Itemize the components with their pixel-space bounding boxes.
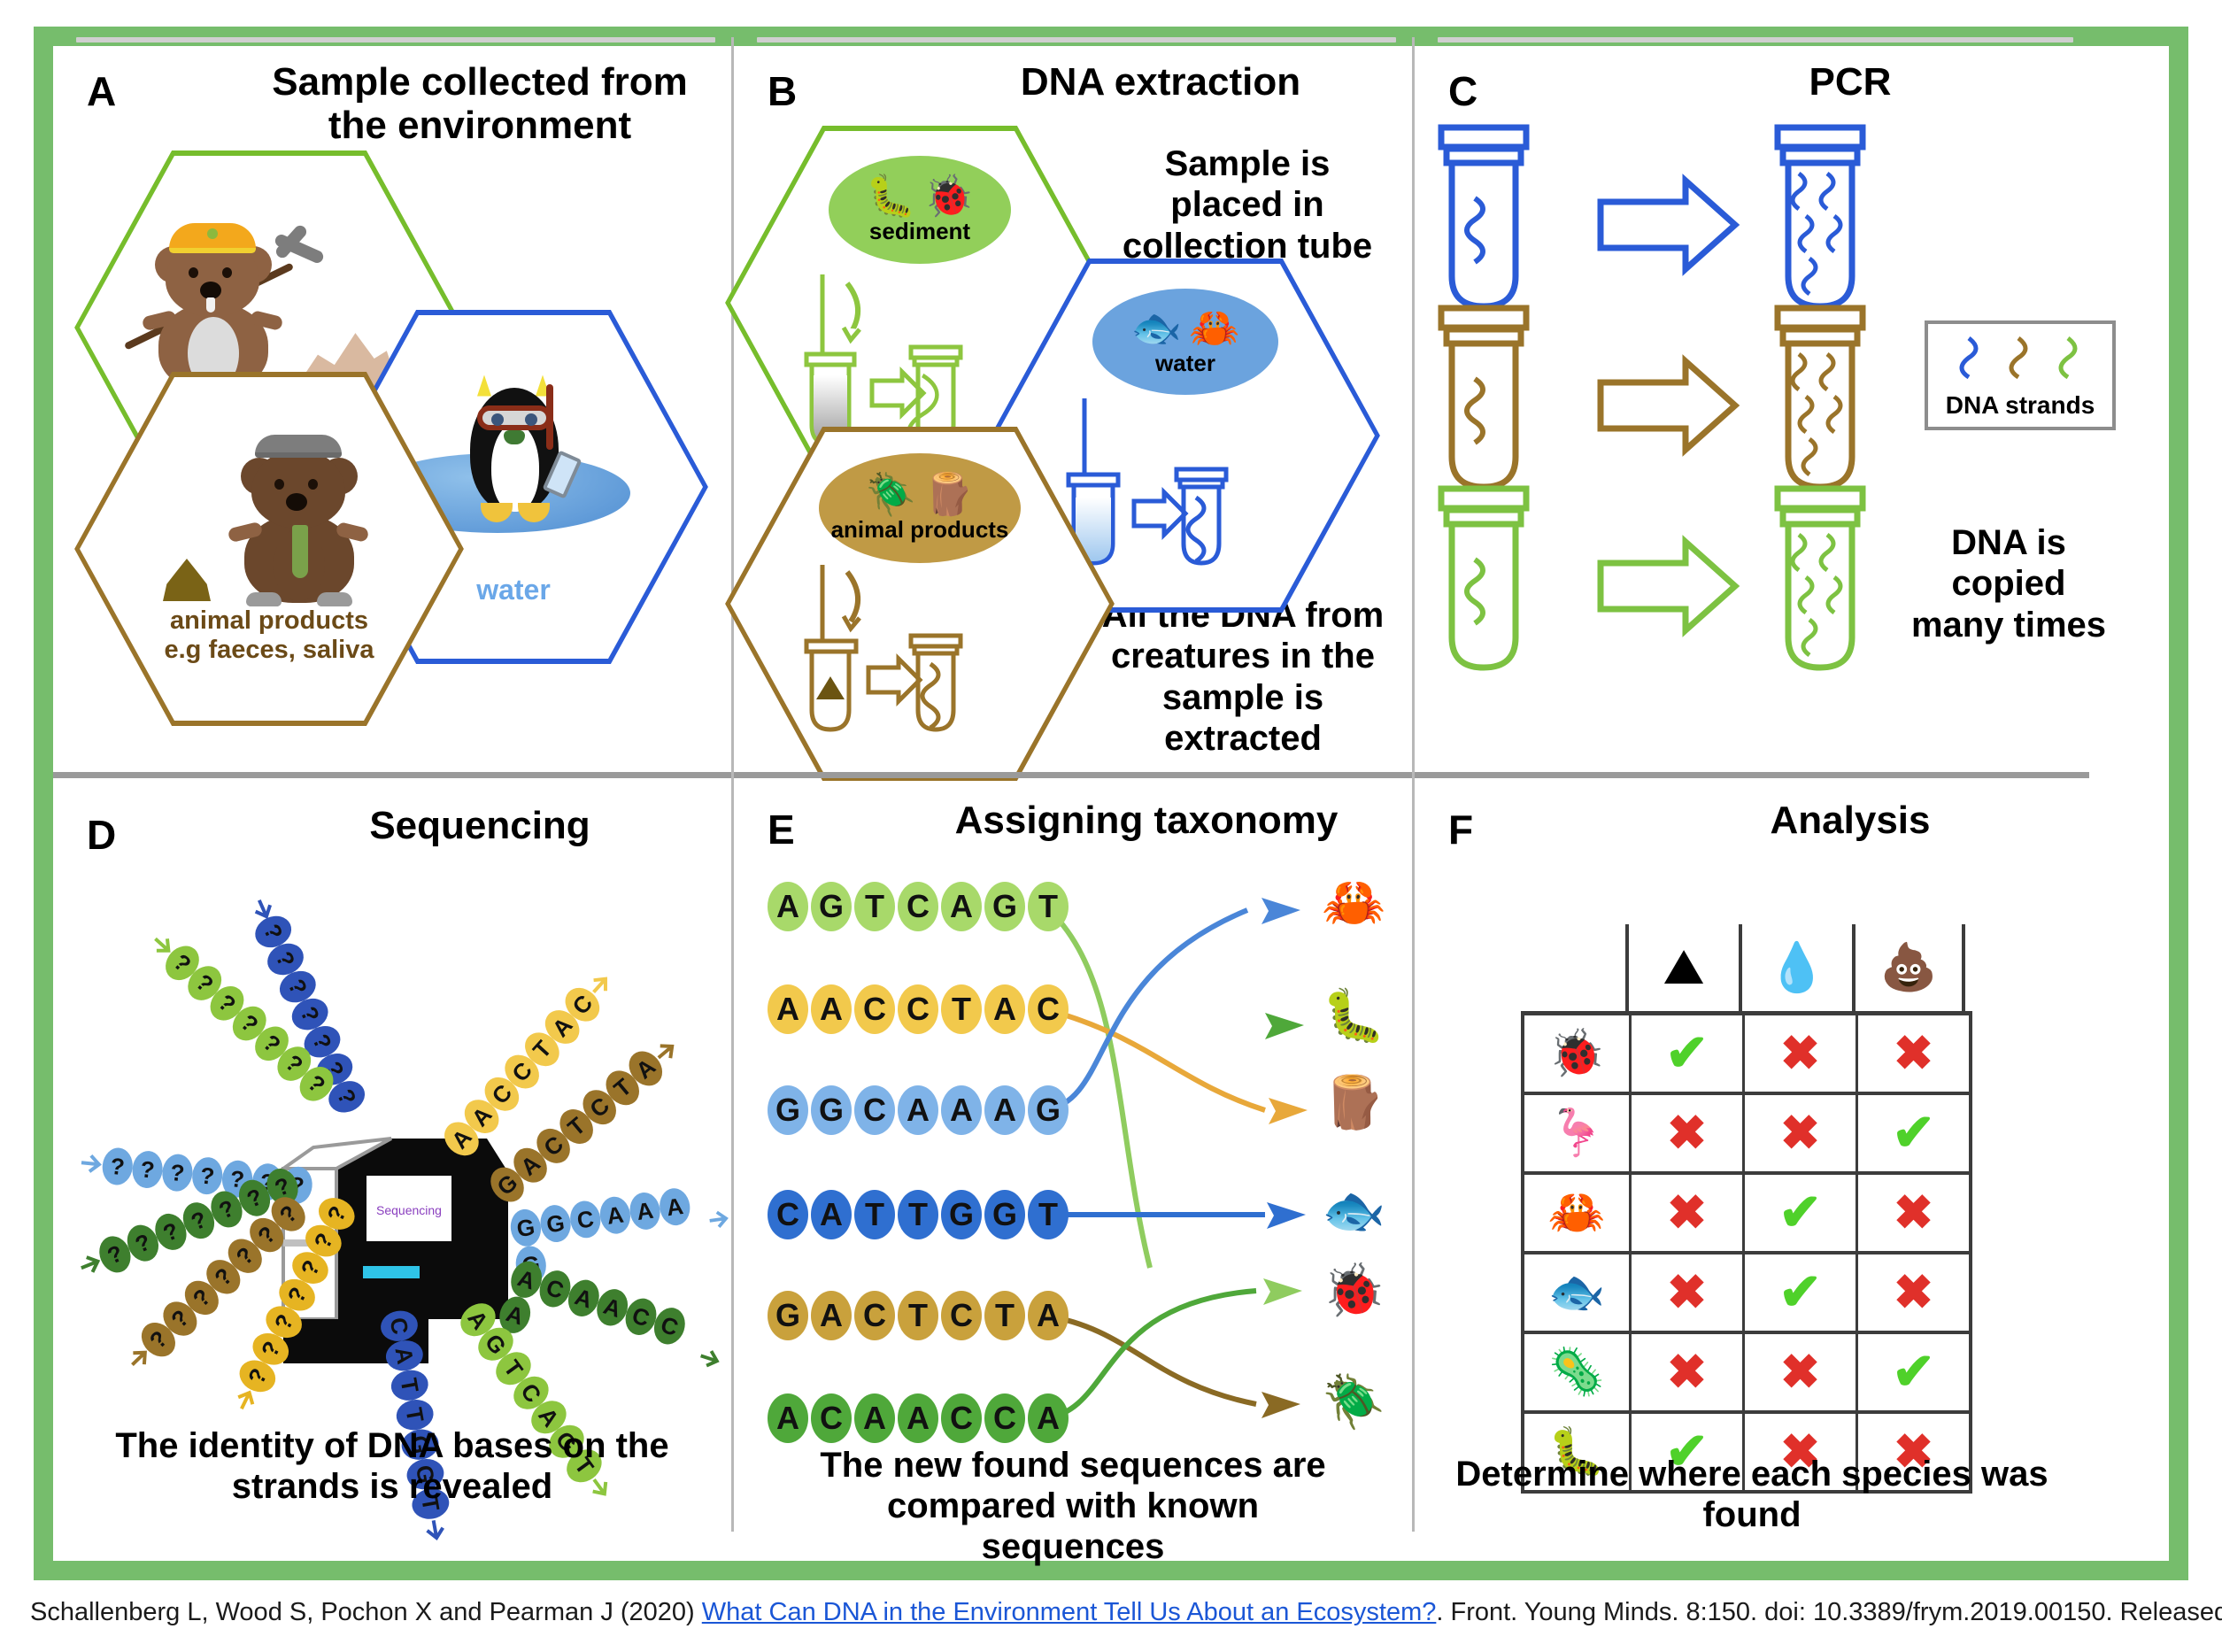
green-beetle-icon: 🦠 <box>1548 1349 1606 1395</box>
sediment-creature-icons: 🐛 🐞 <box>866 175 975 216</box>
faeces-icon <box>163 559 211 601</box>
cross-icon: ✖ <box>1667 1348 1707 1396</box>
dna-base-bead: A <box>598 1194 633 1235</box>
cross-icon: ✖ <box>1667 1109 1707 1157</box>
table-row: 🐟✖✔✖ <box>1524 1254 1969 1334</box>
caterpillar-icon: 🐛 <box>1322 990 1385 1041</box>
dna-base-bead: A <box>854 1393 895 1443</box>
dna-strands-legend-box: DNA strands <box>1925 320 2116 430</box>
sand-pile-icon: ⛰ <box>1663 943 1704 992</box>
panel-d-caption: The identity of DNA bases on the strands… <box>53 1425 731 1507</box>
row-header-beetle: 🐞 <box>1524 1015 1629 1092</box>
e-sequence-2: AACCTAC <box>768 984 1069 1034</box>
table-row: 🦩✖✖✔ <box>1524 1095 1969 1175</box>
cell-crab-sediment: ✖ <box>1629 1175 1742 1251</box>
cell-beetle-animal-products: ✖ <box>1856 1015 1969 1092</box>
hex-b-sediment-label: sediment <box>869 218 970 245</box>
figure-root: A Sample collected from the environment <box>0 0 2222 1652</box>
panel-a: A Sample collected from the environment <box>53 37 734 772</box>
cell-fish-sediment: ✖ <box>1629 1254 1742 1331</box>
dna-base-bead: G <box>538 1203 574 1244</box>
panel-f-caption: Determine where each species was found <box>1415 1454 2089 1535</box>
table-row: 🦠✖✖✔ <box>1524 1334 1969 1414</box>
cross-icon: ✖ <box>1780 1030 1820 1077</box>
panel-a-letter: A <box>87 67 117 115</box>
col-header-animal-products: 💩 <box>1852 924 1965 1011</box>
pcr-row-brown <box>1423 303 1919 506</box>
beetle-icon: 🐞 <box>1322 1264 1385 1316</box>
panel-f-title: Analysis <box>1620 799 2080 842</box>
cell-beetle-sediment: ✔ <box>1629 1015 1742 1092</box>
beetle-icon: 🐞 <box>1548 1031 1606 1077</box>
dna-base-bead: A <box>898 1393 938 1443</box>
panel-a-title: Sample collected from the environment <box>250 60 710 148</box>
panel-c-top-rule <box>1438 37 2073 42</box>
panel-c-title: PCR <box>1620 60 2080 104</box>
panel-d-top-rule <box>53 772 731 778</box>
dna-base-bead: C <box>941 1393 982 1443</box>
panel-c-note: DNA is copied many times <box>1907 522 2110 645</box>
cross-icon: ✖ <box>1780 1109 1820 1157</box>
cell-fly-animal-products: ✔ <box>1856 1095 1969 1171</box>
dna-base-bead: C <box>768 1190 808 1239</box>
hex-b-animal-products-label: animal products <box>831 516 1009 544</box>
dna-base-bead: A <box>1028 1393 1069 1443</box>
panel-e-caption: The new found sequences are compared wit… <box>734 1445 1412 1567</box>
dna-base-bead: C <box>898 882 938 931</box>
dna-base-bead: A <box>984 984 1025 1034</box>
green-beetle-icon: 🪲 <box>866 474 916 514</box>
mole-in-suit-icon <box>225 433 375 601</box>
citation-article-link[interactable]: What Can DNA in the Environment Tell Us … <box>702 1598 1437 1626</box>
check-icon: ✔ <box>1665 1028 1709 1079</box>
dna-base-bead: A <box>811 984 852 1034</box>
dna-base-bead: C <box>1028 984 1069 1034</box>
dna-base-bead: A <box>658 1186 693 1227</box>
dna-base-bead: C <box>854 1085 895 1135</box>
dna-base-bead: T <box>898 1190 938 1239</box>
panel-a-top-rule <box>76 37 715 42</box>
citation-authors: Schallenberg L, Wood S, Pochon X and Pea… <box>30 1598 702 1626</box>
check-icon: ✔ <box>1778 1267 1822 1318</box>
cell-green-beetle-sediment: ✖ <box>1629 1334 1742 1410</box>
row-header-crab: 🦀 <box>1524 1175 1629 1251</box>
cross-icon: ✖ <box>1894 1189 1933 1237</box>
flask-icon: 💧 <box>1767 944 1826 992</box>
e-sequence-1: AGTCAGT <box>768 882 1069 931</box>
dna-base-bead: T <box>1028 1190 1069 1239</box>
cross-icon: ✖ <box>1894 1269 1933 1316</box>
panel-f: F Analysis ⛰ 💧 💩 🐞✔✖✖🦩✖✖✔🦀✖✔✖🐟✖✔✖🦠✖✖✔🐛✔✖… <box>1415 772 2089 1532</box>
panel-grid: A Sample collected from the environment <box>53 37 2089 1532</box>
cell-fly-water: ✖ <box>1742 1095 1856 1171</box>
dna-base-bead: ? <box>130 1149 164 1189</box>
dna-base-bead: A <box>898 1085 938 1135</box>
animal-products-creature-bubble: 🪲 🪵 animal products <box>819 453 1021 563</box>
row-header-fish: 🐟 <box>1524 1254 1629 1331</box>
cell-crab-water: ✔ <box>1742 1175 1856 1251</box>
panel-b-title: DNA extraction <box>930 60 1391 104</box>
dna-base-bead: C <box>854 984 895 1034</box>
panel-d-letter: D <box>87 811 117 859</box>
dna-base-bead: A <box>768 882 808 931</box>
dna-base-bead: T <box>389 1367 430 1403</box>
green-beetle-icon: 🪲 <box>1322 1376 1385 1427</box>
dna-base-bead: A <box>811 1291 852 1340</box>
panel-b: B DNA extraction Sample is placed in col… <box>734 37 1415 772</box>
water-extraction-diagram <box>1061 398 1309 575</box>
svg-text:Sequencing: Sequencing <box>376 1203 442 1217</box>
e-sequence-6: ACAACCA <box>768 1393 1069 1443</box>
fly-icon: 🪵 <box>1322 1077 1385 1128</box>
water-creature-bubble: 🐟 🦀 water <box>1092 289 1278 395</box>
check-icon: ✔ <box>1892 1108 1935 1159</box>
dna-base-bead: ? <box>160 1153 194 1193</box>
dna-base-bead: G <box>508 1208 544 1248</box>
panel-b-note-top: Sample is placed in collection tube <box>1106 143 1389 266</box>
panel-b-letter: B <box>768 67 798 115</box>
hex-water-label: water <box>476 574 551 606</box>
citation: Schallenberg L, Wood S, Pochon X and Pea… <box>30 1598 2222 1627</box>
cell-green-beetle-water: ✖ <box>1742 1334 1856 1410</box>
e-sequence-3: GGCAAAG <box>768 1085 1069 1135</box>
dna-base-bead: C <box>378 1308 420 1344</box>
dna-base-bead: A <box>768 984 808 1034</box>
cell-fly-sediment: ✖ <box>1629 1095 1742 1171</box>
citation-source: . Front. Young Minds. 8:150. doi: 10.338… <box>1436 1598 2222 1626</box>
animal-products-label-line2: e.g faeces, saliva <box>165 636 374 664</box>
crab-icon: 🦀 <box>1189 307 1239 348</box>
row-header-green-beetle: 🦠 <box>1524 1334 1629 1410</box>
cell-beetle-water: ✖ <box>1742 1015 1856 1092</box>
water-creature-icons: 🐟 🦀 <box>1131 307 1240 348</box>
cell-crab-animal-products: ✖ <box>1856 1175 1969 1251</box>
fly-icon: 🪵 <box>923 474 974 514</box>
panel-b-top-rule <box>757 37 1396 42</box>
dna-base-bead: C <box>854 1291 895 1340</box>
animal-products-art <box>163 433 375 601</box>
beetle-icon: 🐞 <box>923 175 974 216</box>
dna-base-bead: T <box>854 1190 895 1239</box>
dna-base-bead: T <box>898 1291 938 1340</box>
panel-c-letter: C <box>1448 67 1478 115</box>
cell-green-beetle-animal-products: ✔ <box>1856 1334 1969 1410</box>
fly-icon: 🦩 <box>1548 1110 1606 1156</box>
dna-base-bead: C <box>567 1199 603 1239</box>
dna-base-bead: A <box>628 1191 663 1231</box>
animal-products-extraction-diagram <box>796 565 1044 742</box>
dna-base-bead: C <box>984 1393 1025 1443</box>
cross-icon: ✖ <box>1780 1348 1820 1396</box>
analysis-table: ⛰ 💧 💩 🐞✔✖✖🦩✖✖✔🦀✖✔✖🐟✖✔✖🦠✖✖✔🐛✔✖✖ <box>1521 924 1972 1494</box>
cross-icon: ✖ <box>1667 1189 1707 1237</box>
dna-base-bead: A <box>1028 1291 1069 1340</box>
col-header-sediment: ⛰ <box>1625 924 1739 1011</box>
dna-base-bead: G <box>941 1190 982 1239</box>
dna-strands-legend-label: DNA strands <box>1946 391 2095 420</box>
dna-base-bead: A <box>941 882 982 931</box>
sediment-art <box>139 221 399 390</box>
sediment-creature-bubble: 🐛 🐞 sediment <box>829 156 1011 264</box>
cross-icon: ✖ <box>1894 1030 1933 1077</box>
panel-b-note-bottom: All the DNA from creatures in the sample… <box>1088 595 1398 760</box>
panel-c: C PCR <box>1415 37 2089 772</box>
cell-fish-animal-products: ✖ <box>1856 1254 1969 1331</box>
panel-f-top-rule <box>1415 772 2089 778</box>
dna-base-bead: T <box>941 984 982 1034</box>
dna-base-bead: A <box>768 1393 808 1443</box>
dna-base-bead: G <box>768 1291 808 1340</box>
dna-base-bead: G <box>984 882 1025 931</box>
dna-base-bead: T <box>1028 882 1069 931</box>
dna-base-bead: ? <box>190 1155 224 1195</box>
dna-base-bead: G <box>984 1190 1025 1239</box>
dna-base-bead: G <box>768 1085 808 1135</box>
panel-e: E Assigning taxonomy <box>734 772 1415 1532</box>
table-row: 🐞✔✖✖ <box>1524 1015 1969 1095</box>
check-icon: ✔ <box>1892 1347 1935 1398</box>
dna-base-bead: A <box>984 1085 1025 1135</box>
animal-products-creature-icons: 🪲 🪵 <box>866 474 975 514</box>
fish-icon: 🐟 <box>1548 1270 1606 1316</box>
crab-icon: 🦀 <box>1548 1190 1606 1236</box>
dna-base-bead: A <box>383 1338 425 1374</box>
e-sequence-5: GACTCTA <box>768 1291 1069 1340</box>
analysis-table-header: ⛰ 💧 💩 <box>1625 924 1972 1011</box>
panel-d-title: Sequencing <box>250 804 710 847</box>
dna-base-bead: C <box>941 1291 982 1340</box>
arrow-head-icon <box>706 1207 731 1232</box>
dna-base-bead: T <box>854 882 895 931</box>
row-header-fly: 🦩 <box>1524 1095 1629 1171</box>
table-row: 🦀✖✔✖ <box>1524 1175 1969 1254</box>
animal-products-label-line1: animal products <box>170 606 368 635</box>
arrow-head-icon <box>79 1151 104 1177</box>
dna-base-bead: C <box>898 984 938 1034</box>
dna-strands-legend-icons <box>1948 331 2093 390</box>
cell-fish-water: ✔ <box>1742 1254 1856 1331</box>
dna-base-bead: G <box>811 1085 852 1135</box>
e-sequence-4: CATTGGT <box>768 1190 1069 1239</box>
dna-base-bead: A <box>811 1190 852 1239</box>
pcr-row-green <box>1423 483 1919 687</box>
fish-icon: 🐟 <box>1322 1185 1385 1236</box>
panel-d: D Sequencing Sequencing ??????? <box>53 772 734 1532</box>
dna-base-bead: A <box>941 1085 982 1135</box>
dna-base-bead: T <box>984 1291 1025 1340</box>
caterpillar-icon: 🐛 <box>866 175 916 216</box>
dna-base-bead: G <box>811 882 852 931</box>
cross-icon: ✖ <box>1667 1269 1707 1316</box>
dna-base-bead: ? <box>101 1146 135 1186</box>
hex-b-water-label: water <box>1155 350 1215 377</box>
arrow-head-icon <box>422 1517 449 1543</box>
mole-with-pickaxe-icon <box>139 221 289 390</box>
faeces-icon: 💩 <box>1880 945 1938 991</box>
pcr-row-blue <box>1423 122 1919 326</box>
panel-f-letter: F <box>1448 806 1474 853</box>
penguin-diver-icon <box>447 368 580 528</box>
dna-base-bead: C <box>811 1393 852 1443</box>
crab-icon: 🦀 <box>1322 876 1385 928</box>
hex-animal-products-label: animal products e.g faeces, saliva <box>165 606 374 665</box>
fish-icon: 🐟 <box>1131 307 1182 348</box>
dna-base-bead: G <box>1028 1085 1069 1135</box>
col-header-water: 💧 <box>1739 924 1852 1011</box>
analysis-table-body: 🐞✔✖✖🦩✖✖✔🦀✖✔✖🐟✖✔✖🦠✖✖✔🐛✔✖✖ <box>1521 1011 1972 1494</box>
check-icon: ✔ <box>1778 1187 1822 1239</box>
